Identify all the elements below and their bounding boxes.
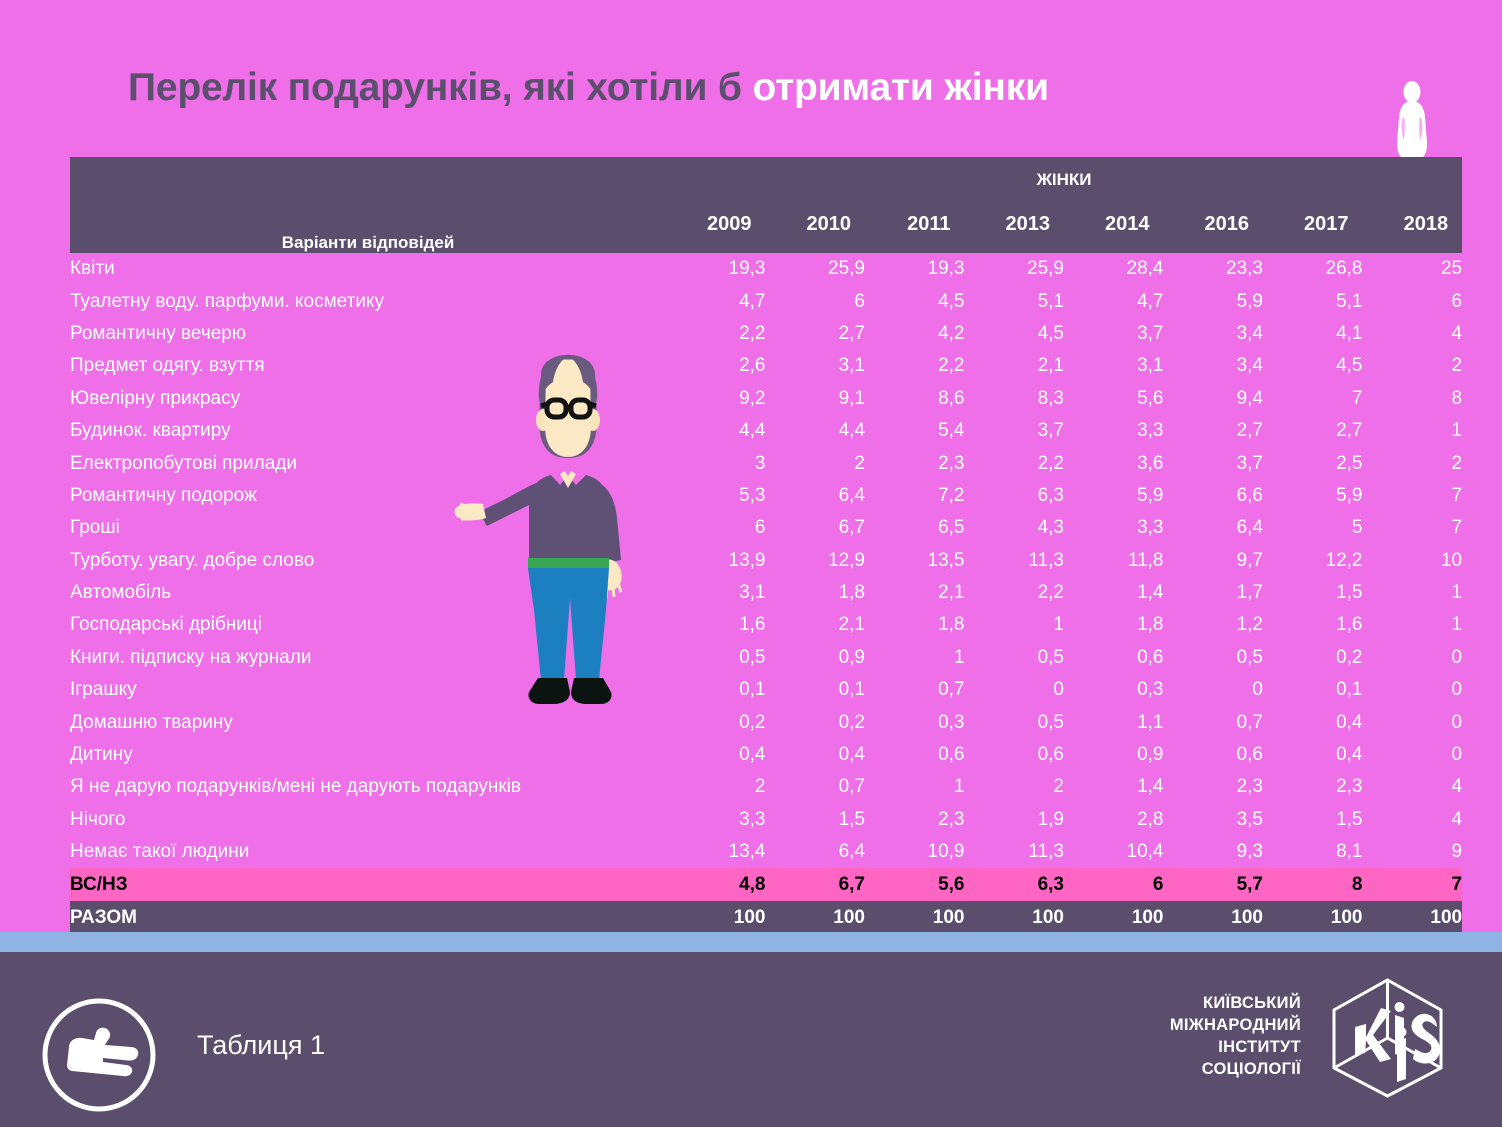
cell-2016: 2,3 [1164,771,1264,803]
cell-2014: 3,7 [1064,318,1164,350]
cell-2011: 100 [865,901,965,934]
cell-2010: 9,1 [766,383,866,415]
cell-2016: 100 [1164,901,1264,934]
cell-2009: 0,5 [666,642,766,674]
cell-2016: 6,6 [1164,480,1264,512]
table-body: Квіти19,325,919,325,928,423,326,825Туале… [70,253,1462,934]
cell-2013: 3,7 [965,415,1065,447]
cell-2016: 3,4 [1164,350,1264,382]
table-row: Будинок. квартиру4,44,45,43,73,32,72,71 [70,415,1462,447]
cell-2018: 10 [1363,545,1463,577]
cell-2011: 0,3 [865,706,965,738]
organization-name: КИЇВСЬКИЙ МІЖНАРОДНИЙ ІНСТИТУТ СОЦІОЛОГІ… [1131,992,1301,1080]
table-row: Книги. підписку на журнали0,50,910,50,60… [70,642,1462,674]
cell-2017: 0,1 [1263,674,1363,706]
cell-2018: 9 [1363,836,1463,868]
cell-2017: 4,5 [1263,350,1363,382]
row-label: Автомобіль [70,577,666,609]
cell-2009: 9,2 [666,383,766,415]
cell-2010: 1,5 [766,804,866,836]
cell-2010: 0,7 [766,771,866,803]
kiis-logo-icon [1325,975,1450,1100]
cell-2009: 1,6 [666,609,766,641]
cell-2010: 0,9 [766,642,866,674]
column-header-year-2014: 2014 [1064,202,1164,253]
row-label: РАЗОМ [70,901,666,934]
cell-2018: 6 [1363,285,1463,317]
table-header-group-row: Варіанти відповідей ЖІНКИ [70,157,1462,202]
table-row: Дитину0,40,40,60,60,90,60,40 [70,739,1462,771]
cell-2017: 8,1 [1263,836,1363,868]
cell-2017: 0,2 [1263,642,1363,674]
cell-2009: 13,9 [666,545,766,577]
cell-2009: 2,6 [666,350,766,382]
cell-2017: 1,5 [1263,804,1363,836]
cell-2009: 2,2 [666,318,766,350]
table-row: Предмет одягу. взуття2,63,12,22,13,13,44… [70,350,1462,382]
cell-2016: 6,4 [1164,512,1264,544]
row-label: Турботу. увагу. добре слово [70,545,666,577]
cell-2011: 1 [865,771,965,803]
cell-2017: 0,4 [1263,706,1363,738]
cell-2014: 28,4 [1064,253,1164,285]
cell-2018: 1 [1363,415,1463,447]
cell-2010: 3,1 [766,350,866,382]
table-row: Електропобутові прилади322,32,23,63,72,5… [70,447,1462,479]
column-header-year-2013: 2013 [965,202,1065,253]
cell-2011: 10,9 [865,836,965,868]
cell-2013: 4,5 [965,318,1065,350]
cell-2014: 1,8 [1064,609,1164,641]
cell-2018: 7 [1363,868,1463,901]
cell-2014: 3,1 [1064,350,1164,382]
cell-2014: 0,9 [1064,739,1164,771]
cell-2014: 4,7 [1064,285,1164,317]
cell-2016: 5,9 [1164,285,1264,317]
cell-2010: 4,4 [766,415,866,447]
cell-2011: 1 [865,642,965,674]
cell-2009: 4,8 [666,868,766,901]
cell-2017: 0,4 [1263,739,1363,771]
page-title: Перелік подарунків, які хотіли б отримат… [128,66,1378,110]
cell-2013: 5,1 [965,285,1065,317]
cell-2009: 4,7 [666,285,766,317]
cell-2014: 3,3 [1064,415,1164,447]
row-label: Романтичну вечерю [70,318,666,350]
row-label: Квіти [70,253,666,285]
cell-2014: 3,3 [1064,512,1164,544]
cell-2017: 8 [1263,868,1363,901]
cell-2017: 7 [1263,383,1363,415]
cell-2010: 12,9 [766,545,866,577]
cell-2010: 2,1 [766,609,866,641]
cell-2018: 1 [1363,577,1463,609]
table-row: Я не дарую подарунків/мені не дарують по… [70,771,1462,803]
cell-2010: 6,4 [766,480,866,512]
cell-2016: 0 [1164,674,1264,706]
cell-2013: 0,6 [965,739,1065,771]
table-row: Іграшку0,10,10,700,300,10 [70,674,1462,706]
table-row: Романтичну вечерю2,22,74,24,53,73,44,14 [70,318,1462,350]
cell-2018: 25 [1363,253,1463,285]
cell-2017: 2,5 [1263,447,1363,479]
cell-2010: 0,2 [766,706,866,738]
cell-2010: 100 [766,901,866,934]
cell-2013: 100 [965,901,1065,934]
cell-2011: 2,3 [865,804,965,836]
cell-2017: 2,7 [1263,415,1363,447]
column-header-answers: Варіанти відповідей [70,157,666,253]
cell-2011: 5,6 [865,868,965,901]
cell-2016: 3,5 [1164,804,1264,836]
column-header-year-2016: 2016 [1164,202,1264,253]
cell-2014: 5,6 [1064,383,1164,415]
cell-2014: 10,4 [1064,836,1164,868]
cell-2017: 2,3 [1263,771,1363,803]
cell-2010: 6 [766,285,866,317]
cell-2011: 2,2 [865,350,965,382]
cell-2018: 7 [1363,512,1463,544]
cell-2014: 11,8 [1064,545,1164,577]
pointing-hand-icon [39,995,159,1115]
cell-2013: 2,2 [965,577,1065,609]
cell-2013: 25,9 [965,253,1065,285]
cell-2013: 6,3 [965,868,1065,901]
cell-2018: 8 [1363,383,1463,415]
cell-2009: 0,4 [666,739,766,771]
cell-2011: 6,5 [865,512,965,544]
cell-2016: 2,7 [1164,415,1264,447]
cell-2009: 100 [666,901,766,934]
cell-2017: 1,6 [1263,609,1363,641]
cell-2009: 0,1 [666,674,766,706]
cell-2017: 12,2 [1263,545,1363,577]
cell-2017: 5 [1263,512,1363,544]
cell-2009: 5,3 [666,480,766,512]
cell-2018: 2 [1363,447,1463,479]
cell-2009: 0,2 [666,706,766,738]
cell-2013: 0 [965,674,1065,706]
cell-2016: 9,3 [1164,836,1264,868]
table-row: Нічого3,31,52,31,92,83,51,54 [70,804,1462,836]
cell-2009: 2 [666,771,766,803]
cell-2014: 100 [1064,901,1164,934]
cell-2011: 0,7 [865,674,965,706]
column-header-year-2018: 2018 [1363,202,1463,253]
table-row-vcnz: ВС/НЗ4,86,75,66,365,787 [70,868,1462,901]
row-label: Іграшку [70,674,666,706]
cell-2013: 11,3 [965,545,1065,577]
row-label: Ювелірну прикрасу [70,383,666,415]
cell-2010: 25,9 [766,253,866,285]
cell-2016: 9,4 [1164,383,1264,415]
cell-2018: 7 [1363,480,1463,512]
cell-2011: 5,4 [865,415,965,447]
cell-2018: 2 [1363,350,1463,382]
cell-2018: 0 [1363,674,1463,706]
cell-2018: 4 [1363,804,1463,836]
cell-2011: 0,6 [865,739,965,771]
table-row: Романтичну подорож5,36,47,26,35,96,65,97 [70,480,1462,512]
cell-2013: 0,5 [965,642,1065,674]
cell-2011: 7,2 [865,480,965,512]
column-header-year-2010: 2010 [766,202,866,253]
cell-2014: 0,6 [1064,642,1164,674]
cell-2009: 4,4 [666,415,766,447]
cell-2013: 4,3 [965,512,1065,544]
cell-2017: 100 [1263,901,1363,934]
cell-2013: 6,3 [965,480,1065,512]
row-label: Немає такої людини [70,836,666,868]
cell-2013: 2,2 [965,447,1065,479]
cell-2017: 5,9 [1263,480,1363,512]
cell-2011: 4,2 [865,318,965,350]
column-header-year-2009: 2009 [666,202,766,253]
cell-2013: 2 [965,771,1065,803]
row-label: Предмет одягу. взуття [70,350,666,382]
cell-2013: 1 [965,609,1065,641]
cell-2014: 0,3 [1064,674,1164,706]
cell-2009: 3 [666,447,766,479]
cell-2014: 5,9 [1064,480,1164,512]
cell-2010: 6,7 [766,868,866,901]
cell-2017: 26,8 [1263,253,1363,285]
cell-2011: 2,3 [865,447,965,479]
row-label: Гроші [70,512,666,544]
cell-2018: 1 [1363,609,1463,641]
table-row: Немає такої людини13,46,410,911,310,49,3… [70,836,1462,868]
row-label: Дитину [70,739,666,771]
cell-2016: 5,7 [1164,868,1264,901]
table-row: Господарські дрібниці1,62,11,811,81,21,6… [70,609,1462,641]
table-row: Гроші66,76,54,33,36,457 [70,512,1462,544]
cell-2018: 0 [1363,706,1463,738]
cell-2013: 2,1 [965,350,1065,382]
cell-2011: 4,5 [865,285,965,317]
cell-2014: 3,6 [1064,447,1164,479]
cell-2018: 0 [1363,642,1463,674]
cell-2010: 2 [766,447,866,479]
table-row-total: РАЗОМ100100100100100100100100 [70,901,1462,934]
cell-2018: 0 [1363,739,1463,771]
cell-2013: 1,9 [965,804,1065,836]
row-label: ВС/НЗ [70,868,666,901]
cell-2010: 6,7 [766,512,866,544]
cell-2013: 0,5 [965,706,1065,738]
cell-2010: 1,8 [766,577,866,609]
cell-2010: 0,1 [766,674,866,706]
cell-2011: 2,1 [865,577,965,609]
cell-2009: 6 [666,512,766,544]
cell-2009: 3,3 [666,804,766,836]
table-row: Турботу. увагу. добре слово13,912,913,51… [70,545,1462,577]
blue-divider-strip [0,932,1502,952]
cell-2018: 4 [1363,318,1463,350]
table-row: Ювелірну прикрасу9,29,18,68,35,69,478 [70,383,1462,415]
cell-2011: 13,5 [865,545,965,577]
cell-2017: 4,1 [1263,318,1363,350]
row-label: Туалетну воду. парфуми. косметику [70,285,666,317]
cell-2011: 8,6 [865,383,965,415]
figure-caption: Таблиця 1 [197,1030,325,1061]
cell-2016: 3,4 [1164,318,1264,350]
row-label: Електропобутові прилади [70,447,666,479]
table-row: Туалетну воду. парфуми. косметику4,764,5… [70,285,1462,317]
cell-2010: 0,4 [766,739,866,771]
row-label: Книги. підписку на журнали [70,642,666,674]
column-header-group-women: ЖІНКИ [666,157,1462,202]
cell-2018: 4 [1363,771,1463,803]
row-label: Господарські дрібниці [70,609,666,641]
cell-2013: 8,3 [965,383,1065,415]
row-label: Нічого [70,804,666,836]
cell-2017: 5,1 [1263,285,1363,317]
cell-2011: 1,8 [865,609,965,641]
gifts-table: Варіанти відповідей ЖІНКИ 2009 2010 2011… [70,157,1462,934]
cell-2009: 19,3 [666,253,766,285]
cell-2016: 3,7 [1164,447,1264,479]
cell-2016: 23,3 [1164,253,1264,285]
table-row: Домашню тварину0,20,20,30,51,10,70,40 [70,706,1462,738]
row-label: Романтичну подорож [70,480,666,512]
table-head: Варіанти відповідей ЖІНКИ 2009 2010 2011… [70,157,1462,253]
cell-2016: 0,6 [1164,739,1264,771]
cell-2016: 1,7 [1164,577,1264,609]
row-label: Будинок. квартиру [70,415,666,447]
table-container: Варіанти відповідей ЖІНКИ 2009 2010 2011… [70,157,1462,934]
column-header-year-2011: 2011 [865,202,965,253]
cell-2014: 6 [1064,868,1164,901]
cell-2011: 19,3 [865,253,965,285]
cell-2010: 6,4 [766,836,866,868]
organization-name-line-3: ІНСТИТУТ СОЦІОЛОГІЇ [1131,1036,1301,1080]
cell-2014: 1,4 [1064,577,1164,609]
cell-2009: 3,1 [666,577,766,609]
cell-2010: 2,7 [766,318,866,350]
page-title-part-light: отримати жінки [752,66,1048,109]
cell-2017: 1,5 [1263,577,1363,609]
table-row: Автомобіль3,11,82,12,21,41,71,51 [70,577,1462,609]
cell-2016: 0,7 [1164,706,1264,738]
organization-name-line-2: МІЖНАРОДНИЙ [1131,1014,1301,1036]
cell-2013: 11,3 [965,836,1065,868]
column-header-year-2017: 2017 [1263,202,1363,253]
row-label: Домашню тварину [70,706,666,738]
organization-name-line-1: КИЇВСЬКИЙ [1131,992,1301,1014]
row-label: Я не дарую подарунків/мені не дарують по… [70,771,666,803]
cell-2014: 1,1 [1064,706,1164,738]
cell-2014: 1,4 [1064,771,1164,803]
cell-2018: 100 [1363,901,1463,934]
cell-2016: 9,7 [1164,545,1264,577]
cell-2016: 1,2 [1164,609,1264,641]
page-title-part-dark: Перелік подарунків, які хотіли б [128,66,752,109]
cell-2009: 13,4 [666,836,766,868]
table-row: Квіти19,325,919,325,928,423,326,825 [70,253,1462,285]
cell-2016: 0,5 [1164,642,1264,674]
cell-2014: 2,8 [1064,804,1164,836]
